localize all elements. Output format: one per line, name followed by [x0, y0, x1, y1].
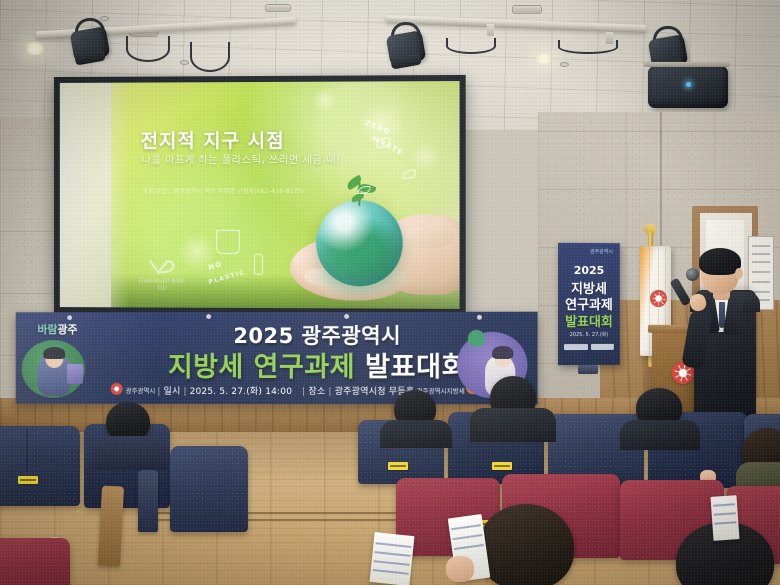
standing-x-banner: 광주광역시 2025 지방세 연구과제 발표대회 2025. 5. 27.(화): [558, 243, 620, 365]
ceiling-downlight: [22, 42, 48, 55]
speaker-power-led-icon: [686, 82, 691, 87]
x-banner-line3: 발표대회: [558, 311, 620, 330]
projector-screen-surface: ZERO WASTE NO PLASTIC 전지적 지구 시점 나를 아프게 하…: [60, 81, 460, 309]
seat[interactable]: [170, 446, 248, 532]
smoke-detector-icon: [100, 16, 109, 21]
audience-shoulders: [470, 408, 556, 442]
conference-hall-photo: ZERO WASTE NO PLASTIC 전지적 지구 시점 나를 아프게 하…: [0, 0, 780, 585]
audience-shoulders: [620, 420, 700, 450]
sponsor-logo-chip: [590, 343, 613, 349]
seat-armrest: [138, 470, 158, 532]
ceiling-vent: [265, 4, 291, 12]
ceiling-downlight: [533, 53, 555, 64]
x-banner-year: 2025: [558, 264, 620, 277]
light-power-cable: [558, 40, 618, 54]
screen-vignette: [60, 81, 460, 309]
speaker-ear: [735, 268, 743, 279]
microphone-head-icon: [686, 268, 699, 281]
seat[interactable]: [0, 538, 70, 585]
x-banner-date: 2025. 5. 27.(화): [558, 331, 620, 338]
seat-fabric-texture: [170, 446, 248, 532]
seat-armrest-wood: [98, 485, 124, 566]
light-power-cable: [190, 42, 230, 72]
x-banner-top-logo: 광주광역시: [590, 248, 613, 255]
audience-head: [478, 504, 574, 585]
smoke-detector-icon: [180, 60, 189, 65]
x-banner-base-stand: [578, 365, 598, 374]
light-power-cable: [446, 38, 496, 54]
seat-fabric-texture: [0, 538, 70, 585]
speaker-mount-bracket: [644, 62, 730, 67]
smoke-detector-icon: [560, 62, 569, 67]
ceiling-speaker: [648, 66, 728, 108]
track-bracket: [487, 24, 494, 36]
x-banner-sponsor-logos: [564, 342, 614, 351]
stage-backdrop-banner: 바람광주 2025 광주광역시 지방세 연구과제 발표대회 |일시|2025. …: [16, 312, 538, 405]
program-booklet: [369, 532, 414, 585]
ceiling-vent: [512, 5, 542, 14]
projector-screen-frame: ZERO WASTE NO PLASTIC 전지적 지구 시점 나를 아프게 하…: [54, 75, 466, 315]
seat-number-label: [388, 462, 408, 470]
sponsor-logo-chip: [564, 344, 588, 350]
seat-seam: [26, 429, 28, 472]
seat-number-label: [492, 462, 512, 470]
audience-hand: [446, 556, 474, 582]
program-booklet: [710, 495, 739, 541]
light-power-cable: [126, 36, 170, 62]
seat[interactable]: [0, 426, 80, 506]
seat-fabric-texture: [0, 426, 80, 506]
seat-number-label: [18, 476, 38, 484]
audience-shoulders: [380, 420, 452, 448]
banner-sheen: [16, 312, 538, 405]
audience-shoulders: [92, 436, 166, 470]
flag-emblem-icon: [650, 290, 667, 307]
